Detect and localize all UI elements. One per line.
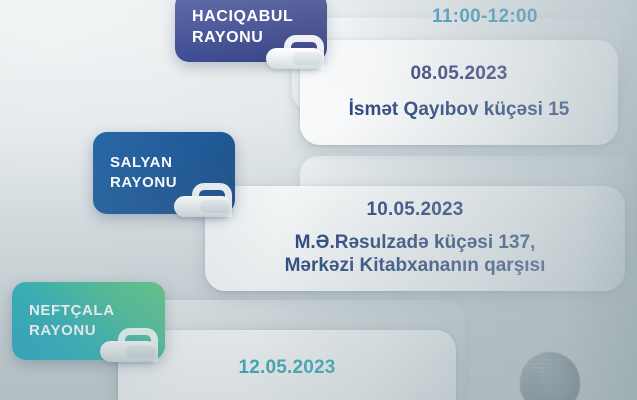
region-tag-haciqabul-line1: HACIQABUL [192,6,327,27]
region-tag-salyan-line2: RAYONU [110,173,235,193]
region-tag-salyan: SALYAN RAYONU [93,132,235,214]
microphone-head [520,352,580,400]
region-tag-salyan-line1: SALYAN [110,153,235,173]
card-date-3: 12.05.2023 [238,358,335,379]
poster-canvas: 11:00-12:00 08.05.2023 İsmət Qayıbov küç… [0,0,637,400]
card-address-2-line1: M.Ə.Rəsulzadə küçəsi 137, [295,231,536,254]
region-tag-haciqabul-line2: RAYONU [192,27,327,48]
info-card-1: 08.05.2023 İsmət Qayıbov küçəsi 15 [300,40,618,145]
info-card-2: 10.05.2023 M.Ə.Rəsulzadə küçəsi 137, Mər… [205,186,625,291]
region-tag-haciqabul: HACIQABUL RAYONU [175,0,327,62]
card-date-1: 08.05.2023 [410,64,507,85]
time-label: 11:00-12:00 [432,6,538,28]
card-address-2-line2: Mərkəzi Kitabxananın qarşısı [285,254,546,277]
region-tag-neftcala-line2: RAYONU [29,321,165,341]
region-tag-neftcala: NEFTÇALA RAYONU [12,282,165,360]
microphone-icon [520,352,580,400]
card-address-1: İsmət Qayıbov küçəsi 15 [349,98,570,121]
card-date-2: 10.05.2023 [366,200,463,221]
info-card-3: 12.05.2023 [118,330,456,400]
region-tag-neftcala-line1: NEFTÇALA [29,301,165,321]
